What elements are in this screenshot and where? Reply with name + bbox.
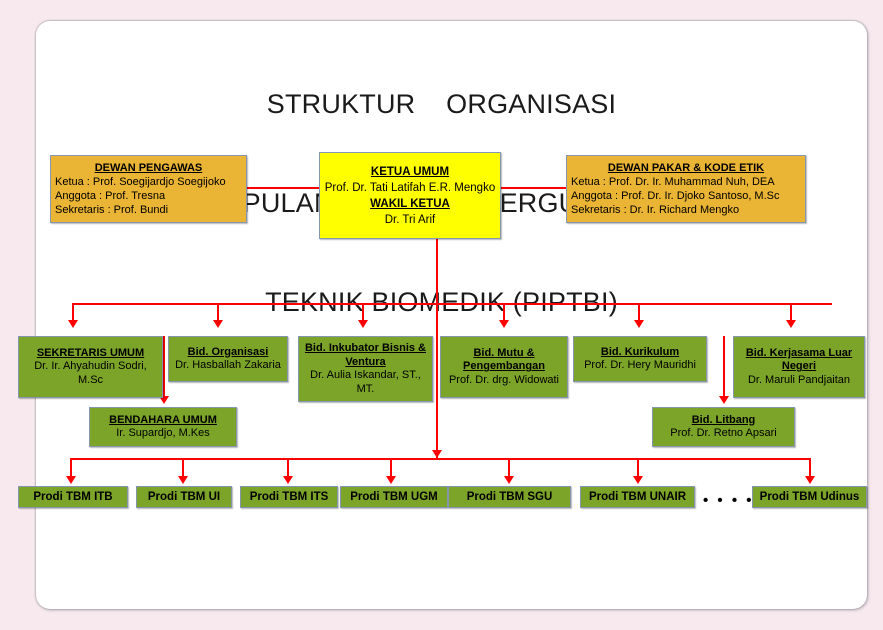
node-prodi-ugm[interactable]: Prodi TBM UGM <box>340 486 448 508</box>
connector-arrow-ugm <box>386 476 396 484</box>
sekretaris-umum-name: Dr. Ir. Ahyahudin Sodri, M.Sc <box>21 360 160 387</box>
bid-mutu-heading: Bid. Mutu & Pengembangan <box>443 347 565 374</box>
connector-programs-bus <box>70 458 810 460</box>
connector-kurikulum-to-litbang <box>723 336 725 398</box>
node-bendahara-umum[interactable]: BENDAHARA UMUM Ir. Supardjo, M.Kes <box>89 407 237 447</box>
connector-bus-sgu <box>508 458 510 478</box>
connector-chairman-trunk-arrow <box>432 450 442 458</box>
connector-arrow-kurikulum <box>634 320 644 328</box>
connector-arrow-sgu <box>504 476 514 484</box>
node-sekretaris-umum[interactable]: SEKRETARIS UMUM Dr. Ir. Ahyahudin Sodri,… <box>18 336 163 398</box>
node-dewan-pakar[interactable]: DEWAN PAKAR & KODE ETIK Ketua : Prof. Dr… <box>566 155 806 223</box>
bid-mutu-name: Prof. Dr. drg. Widowati <box>443 374 565 388</box>
bendahara-umum-name: Ir. Supardjo, M.Kes <box>92 427 234 441</box>
connector-arrow-organisasi <box>213 320 223 328</box>
dewan-pengawas-line-1: Ketua : Prof. Soegijardjo Soegijoko <box>51 175 246 189</box>
wakil-ketua-heading: WAKIL KETUA <box>322 196 498 212</box>
dewan-pengawas-heading: DEWAN PENGAWAS <box>53 161 244 175</box>
node-ketua-umum[interactable]: KETUA UMUM Prof. Dr. Tati Latifah E.R. M… <box>319 152 501 239</box>
bid-litbang-name: Prof. Dr. Retno Apsari <box>655 427 792 441</box>
bid-inkubator-name: Dr. Aulia Iskandar, ST., MT. <box>301 369 430 396</box>
dewan-pakar-line-3: Sekretaris : Dr. Ir. Richard Mengko <box>567 203 805 217</box>
dewan-pengawas-line-3: Sekretaris : Prof. Bundi <box>51 203 246 217</box>
node-bid-litbang[interactable]: Bid. Litbang Prof. Dr. Retno Apsari <box>652 407 795 447</box>
connector-bus-itb <box>70 458 72 478</box>
bid-kerjasama-name: Dr. Maruli Pandjaitan <box>736 374 862 388</box>
bendahara-umum-heading: BENDAHARA UMUM <box>92 414 234 428</box>
connector-arrow-inkubator <box>358 320 368 328</box>
node-dewan-pengawas[interactable]: DEWAN PENGAWAS Ketua : Prof. Soegijardjo… <box>50 155 247 223</box>
sekretaris-umum-heading: SEKRETARIS UMUM <box>21 347 160 361</box>
connector-arrow-kerjasama <box>786 320 796 328</box>
connector-arrow-mutu <box>499 320 509 328</box>
bid-kurikulum-heading: Bid. Kurikulum <box>576 346 704 360</box>
connector-chairman-trunk <box>436 239 438 458</box>
node-prodi-itb[interactable]: Prodi TBM ITB <box>18 486 128 508</box>
prodi-unair-label: Prodi TBM UNAIR <box>583 490 692 504</box>
connector-arrow-litbang <box>719 396 729 404</box>
node-prodi-udinus[interactable]: Prodi TBM Udinus <box>752 486 867 508</box>
node-prodi-ui[interactable]: Prodi TBM UI <box>136 486 232 508</box>
prodi-itb-label: Prodi TBM ITB <box>21 490 125 504</box>
node-prodi-unair[interactable]: Prodi TBM UNAIR <box>580 486 695 508</box>
bid-organisasi-heading: Bid. Organisasi <box>171 346 285 360</box>
prodi-sgu-label: Prodi TBM SGU <box>451 490 568 504</box>
node-bid-mutu[interactable]: Bid. Mutu & Pengembangan Prof. Dr. drg. … <box>440 336 568 398</box>
bid-organisasi-name: Dr. Hasballah Zakaria <box>171 359 285 373</box>
connector-chairman-to-right <box>501 187 566 189</box>
dewan-pengawas-line-2: Anggota : Prof. Tresna <box>51 189 246 203</box>
prodi-its-label: Prodi TBM ITS <box>243 490 335 504</box>
connector-bus-udinus <box>809 458 811 478</box>
connector-arrow-unair <box>633 476 643 484</box>
dewan-pakar-heading: DEWAN PAKAR & KODE ETIK <box>569 161 803 175</box>
connector-divisions-bus <box>72 303 832 305</box>
ketua-umum-name: Prof. Dr. Tati Latifah E.R. Mengko <box>322 180 498 196</box>
bid-kerjasama-heading: Bid. Kerjasama Luar Negeri <box>736 347 862 374</box>
connector-arrow-sekretaris <box>68 320 78 328</box>
node-bid-kerjasama[interactable]: Bid. Kerjasama Luar Negeri Dr. Maruli Pa… <box>733 336 865 398</box>
ketua-umum-heading: KETUA UMUM <box>322 164 498 180</box>
title-line-1: STRUKTUR ORGANISASI <box>0 88 883 121</box>
dewan-pakar-line-1: Ketua : Prof. Dr. Ir. Muhammad Nuh, DEA <box>567 175 805 189</box>
connector-left-to-chairman <box>247 187 319 189</box>
node-bid-inkubator[interactable]: Bid. Inkubator Bisnis & Ventura Dr. Auli… <box>298 336 433 402</box>
dewan-pakar-line-2: Anggota : Prof. Dr. Ir. Djoko Santoso, M… <box>567 189 805 203</box>
prodi-ugm-label: Prodi TBM UGM <box>343 490 445 504</box>
connector-bus-unair <box>637 458 639 478</box>
prodi-udinus-label: Prodi TBM Udinus <box>755 490 864 504</box>
node-bid-kurikulum[interactable]: Bid. Kurikulum Prof. Dr. Hery Mauridhi <box>573 336 707 382</box>
bid-kurikulum-name: Prof. Dr. Hery Mauridhi <box>576 359 704 373</box>
connector-arrow-its <box>283 476 293 484</box>
bid-litbang-heading: Bid. Litbang <box>655 414 792 428</box>
node-prodi-its[interactable]: Prodi TBM ITS <box>240 486 338 508</box>
prodi-ui-label: Prodi TBM UI <box>139 490 229 504</box>
connector-arrow-itb <box>66 476 76 484</box>
connector-bus-ui <box>182 458 184 478</box>
bid-inkubator-heading: Bid. Inkubator Bisnis & Ventura <box>301 342 430 369</box>
wakil-ketua-name: Dr. Tri Arif <box>322 212 498 228</box>
connector-arrow-ui <box>178 476 188 484</box>
connector-arrow-udinus <box>805 476 815 484</box>
connector-bus-its <box>287 458 289 478</box>
connector-sekretaris-to-bendahara <box>163 336 165 398</box>
node-prodi-sgu[interactable]: Prodi TBM SGU <box>448 486 571 508</box>
node-bid-organisasi[interactable]: Bid. Organisasi Dr. Hasballah Zakaria <box>168 336 288 382</box>
diagram-stage: STRUKTUR ORGANISASI PERKUMPULAN INSTITUS… <box>0 0 883 630</box>
connector-bus-ugm <box>390 458 392 478</box>
